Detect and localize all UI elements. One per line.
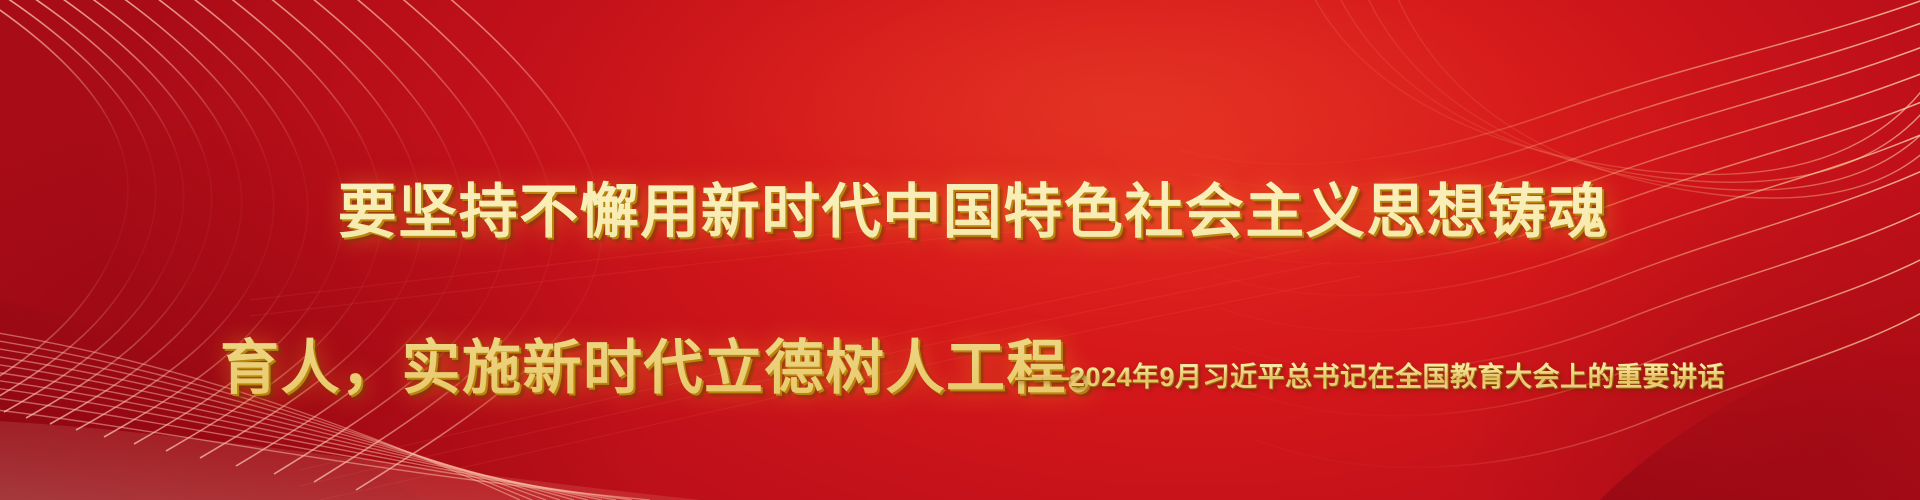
- banner-content: 要坚持不懈用新时代中国特色社会主义思想铸魂 育人，实施新时代立德树人工程。: [0, 0, 1920, 500]
- attribution-text: ——2024年9月习近平总书记在全国教育大会上的重要讲话: [1015, 355, 1725, 394]
- headline-block: 要坚持不懈用新时代中国特色社会主义思想铸魂 育人，实施新时代立德树人工程。: [210, 96, 1710, 485]
- propaganda-banner: 要坚持不懈用新时代中国特色社会主义思想铸魂 育人，实施新时代立德树人工程。 ——…: [0, 0, 1920, 500]
- headline-line-1: 要坚持不懈用新时代中国特色社会主义思想铸魂: [210, 174, 1710, 252]
- attribution-wrap: ——2024年9月习近平总书记在全国教育大会上的重要讲话: [1015, 355, 1725, 394]
